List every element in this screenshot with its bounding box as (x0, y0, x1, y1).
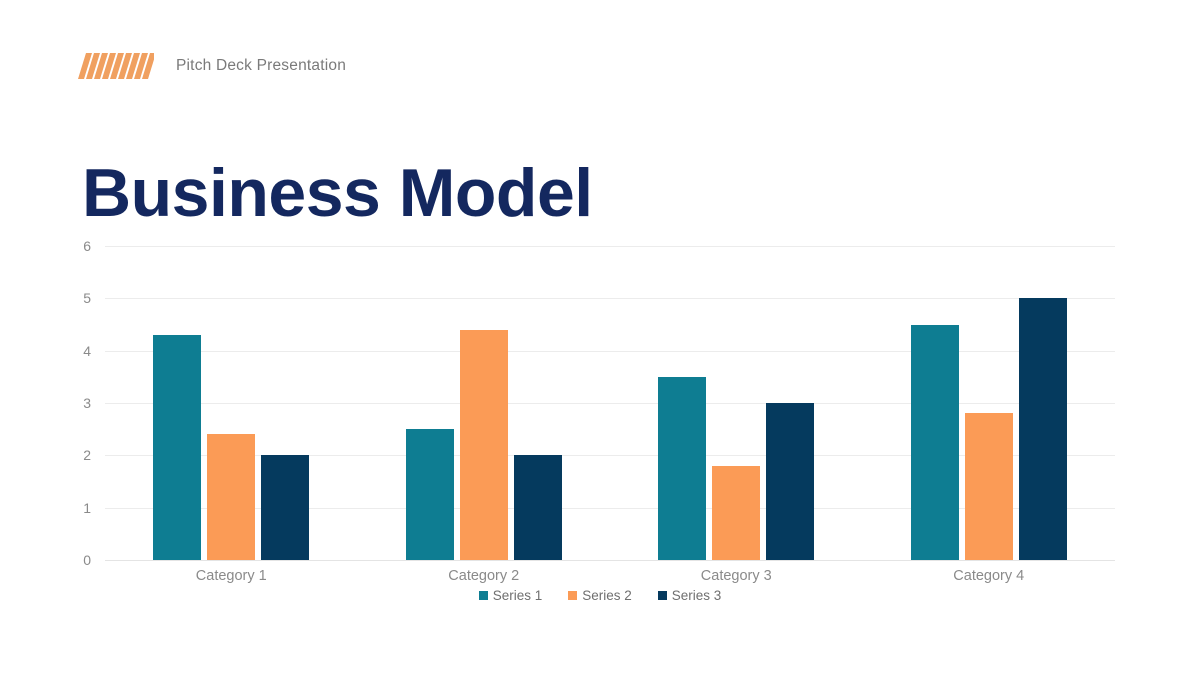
bar-2-series-3 (514, 455, 562, 560)
y-axis-tick-label: 6 (83, 238, 91, 254)
bar-4-series-2 (965, 413, 1013, 560)
legend-swatch-icon (658, 591, 667, 600)
chart-legend: Series 1Series 2Series 3 (0, 588, 1200, 603)
bar-1-series-2 (207, 434, 255, 560)
diagonal-stripes-logo-icon (78, 53, 154, 79)
y-axis-tick-label: 3 (83, 395, 91, 411)
legend-swatch-icon (568, 591, 577, 600)
bar-1-series-3 (261, 455, 309, 560)
x-axis-category-label: Category 1 (105, 568, 358, 584)
legend-item-series-1[interactable]: Series 1 (479, 588, 543, 603)
bar-group: Category 2 (358, 246, 611, 560)
bar-chart: 0123456Category 1Category 2Category 3Cat… (0, 232, 1200, 632)
legend-item-series-3[interactable]: Series 3 (658, 588, 722, 603)
bar-3-series-1 (658, 377, 706, 560)
bar-4-series-1 (911, 325, 959, 561)
x-axis-category-label: Category 4 (863, 568, 1116, 584)
page-title: Business Model (82, 158, 593, 229)
bar-3-series-3 (766, 403, 814, 560)
y-axis-tick-label: 4 (83, 343, 91, 359)
bar-2-series-1 (406, 429, 454, 560)
x-axis-category-label: Category 3 (610, 568, 863, 584)
y-axis-tick-label: 0 (83, 552, 91, 568)
x-axis-category-label: Category 2 (358, 568, 611, 584)
bar-group: Category 3 (610, 246, 863, 560)
bar-group: Category 4 (863, 246, 1116, 560)
y-axis-tick-label: 1 (83, 500, 91, 516)
y-axis-tick-label: 2 (83, 447, 91, 463)
legend-label: Series 2 (582, 588, 632, 603)
gridline: 0 (105, 560, 1115, 561)
slide-header: Pitch Deck Presentation (78, 50, 346, 82)
bar-3-series-2 (712, 466, 760, 560)
legend-swatch-icon (479, 591, 488, 600)
legend-label: Series 1 (493, 588, 543, 603)
bar-4-series-3 (1019, 298, 1067, 560)
header-label: Pitch Deck Presentation (176, 57, 346, 75)
legend-item-series-2[interactable]: Series 2 (568, 588, 632, 603)
bar-group: Category 1 (105, 246, 358, 560)
legend-label: Series 3 (672, 588, 722, 603)
chart-plot-area: 0123456Category 1Category 2Category 3Cat… (105, 246, 1115, 560)
slide-canvas: Pitch Deck Presentation Business Model 0… (0, 0, 1200, 675)
y-axis-tick-label: 5 (83, 290, 91, 306)
bar-2-series-2 (460, 330, 508, 560)
bar-1-series-1 (153, 335, 201, 560)
